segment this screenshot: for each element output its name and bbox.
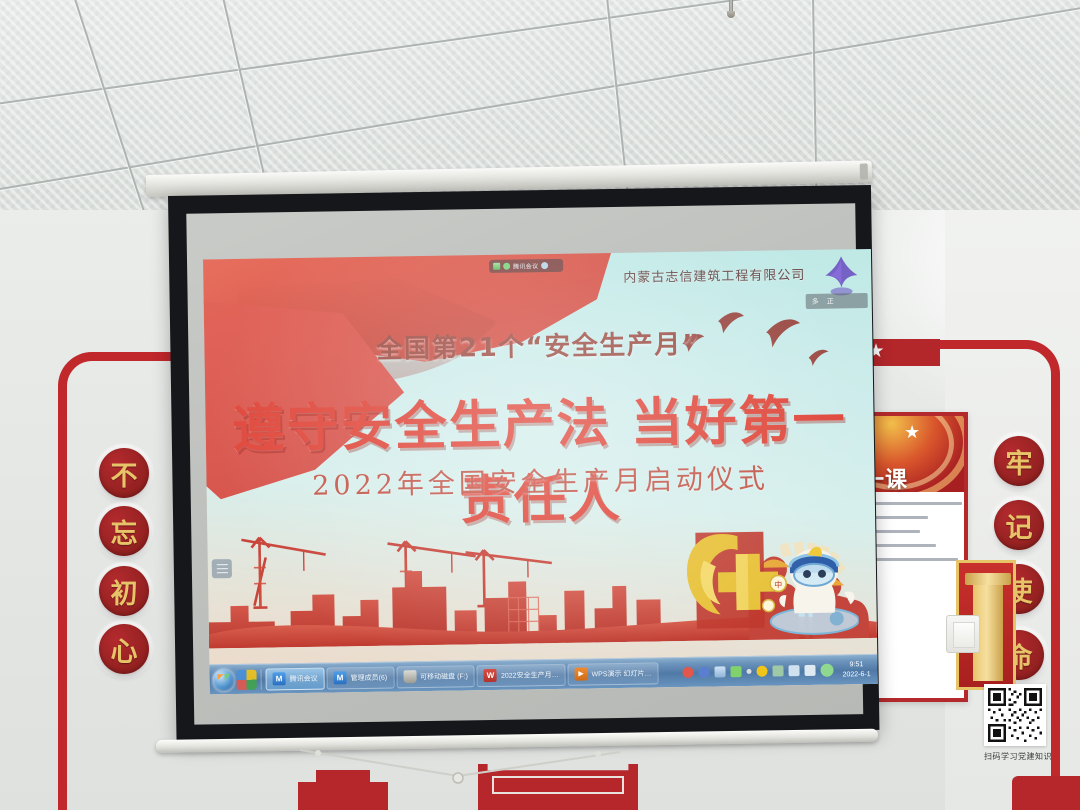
- taskbar-divider: [260, 669, 261, 689]
- taskbar-item-members[interactable]: 管理成员(6): [326, 666, 394, 689]
- presentation-slide: 腾讯会议 内蒙古志信建筑工程有限公司 多 正: [203, 249, 878, 694]
- taskbar-item-label: 2022安全生产月…: [501, 669, 559, 680]
- sogou-input-icon[interactable]: [682, 667, 693, 678]
- medallion-left-0: 不: [99, 448, 149, 498]
- meeting-label: 腾讯会议: [513, 261, 538, 270]
- taskbar-item-wps-presentation[interactable]: WPS演示 幻灯片…: [567, 662, 658, 685]
- clock-date: 2022-6-1: [842, 670, 870, 680]
- projector-screen-pull-cord[interactable]: [300, 748, 620, 788]
- medallion-left-2: 初: [99, 566, 149, 616]
- help-icon[interactable]: [698, 667, 709, 678]
- projector-screen: 腾讯会议 内蒙古志信建筑工程有限公司 多 正: [168, 185, 879, 741]
- removable-disk-icon: [403, 670, 416, 683]
- projection-surface: 腾讯会议 内蒙古志信建筑工程有限公司 多 正: [186, 203, 863, 724]
- volume-icon[interactable]: [804, 665, 815, 676]
- taskbar-item-label: 可移动磁盘 (F:): [420, 671, 468, 682]
- signal-bars-icon: [493, 263, 500, 270]
- qr-code-icon[interactable]: [984, 684, 1046, 746]
- green-circle-icon[interactable]: [820, 664, 833, 677]
- fire-sprinkler-icon: [725, 0, 737, 18]
- monitor-icon[interactable]: [788, 665, 799, 676]
- usb-icon[interactable]: [772, 665, 783, 676]
- system-tray: 9:51 2022-6-1: [682, 660, 874, 682]
- windows-taskbar: 腾讯会议 管理成员(6) 可移动磁盘 (F:) 2022安全生产月…: [209, 654, 877, 694]
- medallion-left-3: 心: [99, 624, 149, 674]
- medallion-left-1: 忘: [99, 506, 149, 556]
- company-name: 内蒙古志信建筑工程有限公司: [623, 264, 805, 286]
- light-switch-icon: [946, 615, 980, 653]
- decor-shape-right: [1012, 776, 1080, 810]
- qr-code-block: 扫码学习党建知识: [984, 684, 1052, 762]
- poster-title: 一课: [862, 462, 968, 494]
- menu-lines-icon[interactable]: [212, 559, 232, 578]
- clock-time: 9:51: [842, 660, 870, 670]
- poster-body-text: [866, 502, 966, 572]
- meeting-overlay-bar[interactable]: 腾讯会议: [489, 259, 563, 273]
- taskbar-item-label: WPS演示 幻灯片…: [591, 668, 651, 679]
- taskbar-item-label: 腾讯会议: [290, 673, 318, 683]
- tencent-meeting-icon: [272, 672, 285, 685]
- network-icon[interactable]: [714, 666, 725, 677]
- taskbar-item-wps-doc[interactable]: 2022安全生产月…: [477, 663, 566, 686]
- quick-launch-icon[interactable]: [236, 669, 256, 689]
- windows-start-orb-icon[interactable]: [212, 669, 234, 691]
- dot-icon[interactable]: [746, 669, 751, 674]
- shield-icon[interactable]: [756, 666, 767, 677]
- qr-caption: 扫码学习党建知识: [984, 751, 1052, 762]
- meeting-room-photo: ★ 不 忘 初 心 牢 记 使 命 ★ 一课: [0, 0, 1080, 810]
- star-icon: ★: [904, 422, 920, 443]
- taskbar-item-meeting[interactable]: 腾讯会议: [265, 667, 324, 690]
- medallion-right-1: 记: [994, 500, 1044, 550]
- taskbar-item-label: 管理成员(6): [351, 672, 388, 683]
- wps-icon: [484, 669, 497, 682]
- tencent-meeting-icon: [333, 671, 346, 684]
- wps-presentation-icon: [574, 667, 587, 680]
- svg-text:中: 中: [774, 579, 782, 589]
- record-dot-icon: [503, 263, 510, 270]
- taskbar-clock[interactable]: 9:51 2022-6-1: [838, 660, 870, 679]
- speaker-icon: [541, 262, 548, 269]
- logo-caption-pill: 多 正: [806, 293, 868, 309]
- taskbar-item-removable-disk[interactable]: 可移动磁盘 (F:): [396, 665, 475, 688]
- battery-icon[interactable]: [730, 666, 741, 677]
- pill-text-right: 正: [827, 296, 834, 306]
- medallion-right-0: 牢: [994, 436, 1044, 486]
- pill-text-left: 多: [812, 296, 819, 306]
